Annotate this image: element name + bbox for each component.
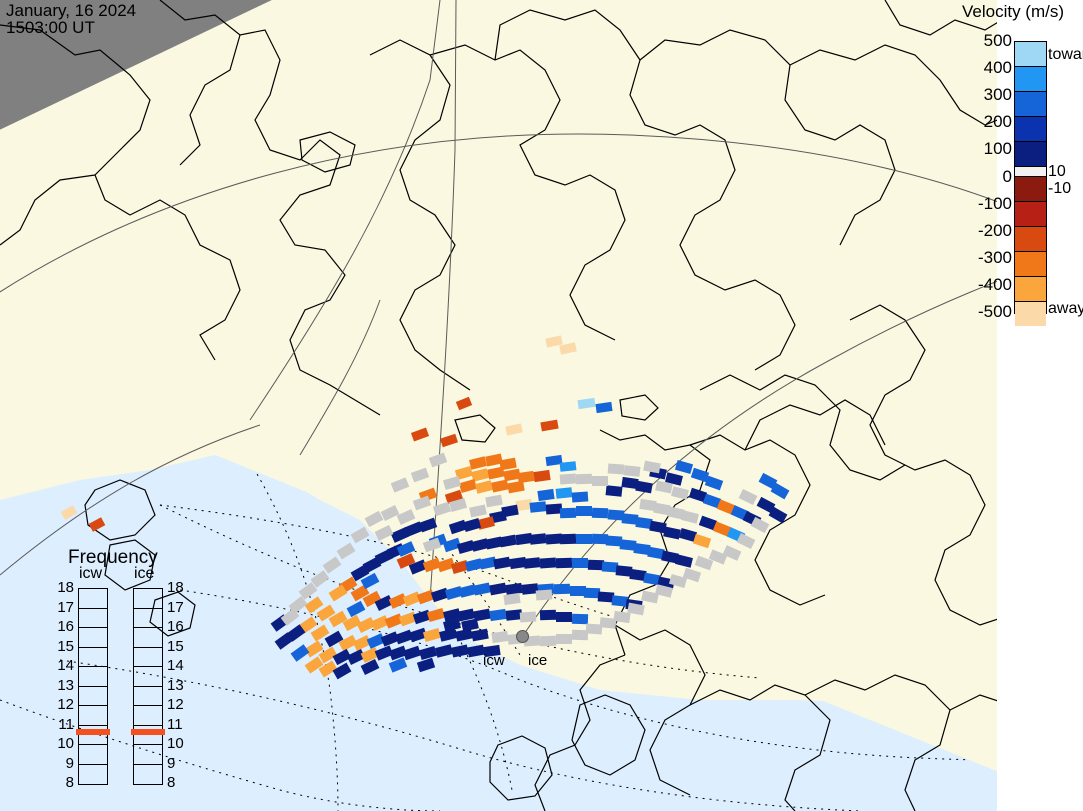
velocity-cell [435, 644, 453, 658]
frequency-tick-ice-15: 15 [167, 638, 193, 655]
frequency-tick-icw-9: 9 [48, 755, 74, 772]
frequency-marker-ice [131, 729, 165, 735]
site-label-icw: icw [483, 652, 505, 669]
colorbar-tick-100: 100 [968, 139, 1012, 159]
velocity-cell [323, 556, 342, 573]
velocity-cell [655, 480, 673, 493]
velocity-cell [624, 465, 641, 477]
velocity-cell [572, 491, 589, 502]
velocity-cell [375, 525, 394, 541]
velocity-cell [443, 476, 461, 490]
velocity-cell [560, 461, 577, 472]
frequency-bar-icw [78, 588, 108, 785]
velocity-cell [586, 623, 603, 634]
velocity-cell [485, 495, 502, 508]
velocity-cell [491, 631, 508, 643]
colorbar-tick-400: 400 [968, 58, 1012, 78]
frequency-tick-ice-10: 10 [167, 735, 193, 752]
velocity-cell [556, 558, 572, 569]
frequency-segment [134, 706, 162, 726]
frequency-bar-name-ice: ice [134, 565, 154, 583]
colorbar-band-away-3 [1015, 251, 1046, 276]
velocity-cell [391, 527, 410, 543]
frequency-segment [79, 628, 107, 648]
velocity-cell [643, 461, 660, 474]
velocity-cell [576, 534, 592, 544]
radar-site-marker [516, 630, 529, 643]
frequency-tick-ice-13: 13 [167, 677, 193, 694]
velocity-cell [675, 554, 693, 568]
velocity-cell [671, 486, 689, 500]
velocity-cell [641, 590, 659, 603]
velocity-cell [456, 397, 472, 411]
velocity-cell [608, 463, 625, 474]
velocity-cell [681, 510, 699, 524]
velocity-cell [520, 611, 537, 622]
frequency-tick-icw-12: 12 [48, 696, 74, 713]
colorbar-band-away-2 [1015, 226, 1046, 251]
frequency-segment [79, 667, 107, 687]
timestamp: January, 16 2024 1503:00 UT [6, 2, 136, 36]
velocity-cell [337, 543, 356, 560]
velocity-cell [489, 609, 506, 621]
velocity-cell [576, 506, 592, 516]
colorbar-tick-300: 300 [968, 85, 1012, 105]
velocity-cell [443, 618, 461, 632]
colorbar-band-toward-0 [1015, 42, 1046, 66]
frequency-segment [79, 687, 107, 707]
velocity-cell [411, 428, 429, 442]
colorbar-tick-neg400: -400 [968, 275, 1012, 295]
frequency-segment [134, 609, 162, 629]
velocity-cell [540, 557, 557, 568]
frequency-panel: icw18171615141312111098ice18171615141312… [0, 540, 200, 811]
velocity-cell [572, 558, 588, 568]
velocity-cell [411, 468, 429, 483]
velocity-cell [433, 502, 451, 516]
velocity-cell [621, 477, 638, 489]
frequency-tick-ice-8: 8 [167, 774, 193, 791]
velocity-cell [595, 402, 612, 413]
velocity-cell [739, 489, 758, 505]
velocity-cell [413, 496, 431, 511]
velocity-cell [440, 434, 458, 448]
velocity-cell [592, 476, 608, 486]
velocity-cell [449, 520, 467, 534]
frequency-segment [79, 589, 107, 609]
frequency-tick-icw-13: 13 [48, 677, 74, 694]
velocity-cell [530, 501, 547, 513]
velocity-cell [576, 474, 592, 485]
frequency-tick-ice-18: 18 [167, 579, 193, 596]
velocity-cell [554, 584, 570, 595]
frequency-tick-icw-15: 15 [48, 638, 74, 655]
velocity-cell [705, 476, 723, 491]
velocity-cell [451, 644, 469, 657]
velocity-cell [503, 593, 520, 605]
frequency-tick-icw-16: 16 [48, 618, 74, 635]
colorbar-away-label: away [1048, 300, 1083, 318]
superdarn-velocity-map: icw ice January, 16 2024 1503:00 UT Velo… [0, 0, 1083, 811]
velocity-cell [540, 636, 556, 647]
velocity-cell [499, 535, 516, 548]
colorbar-band-toward-2 [1015, 91, 1046, 116]
colorbar-tick-neg200: -200 [968, 221, 1012, 241]
colorbar-band-away-5 [1015, 301, 1046, 326]
colorbar-band-away-4 [1015, 276, 1046, 301]
velocity-cell [89, 517, 106, 532]
frequency-tick-icw-10: 10 [48, 735, 74, 752]
velocity-cell [489, 583, 506, 596]
frequency-segment [134, 667, 162, 687]
colorbar-band-away-0 [1015, 177, 1046, 201]
velocity-cell [737, 533, 756, 549]
velocity-cell [397, 509, 416, 525]
velocity-cell [459, 479, 477, 493]
velocity-cell [381, 505, 400, 521]
frequency-segment [134, 687, 162, 707]
velocity-cell [403, 646, 421, 660]
velocity-cell [540, 420, 558, 432]
colorbar-tick-neg100: -100 [968, 194, 1012, 214]
colorbar-band-toward-4 [1015, 141, 1046, 166]
velocity-cell [487, 466, 505, 479]
colorbar-tick-200: 200 [968, 112, 1012, 132]
frequency-marker-icw [76, 729, 110, 735]
velocity-cell [556, 634, 572, 644]
frequency-segment [134, 589, 162, 609]
velocity-cell [423, 538, 441, 553]
frequency-tick-ice-16: 16 [167, 618, 193, 635]
colorbar-tick-neg300: -300 [968, 248, 1012, 268]
velocity-cell [592, 508, 608, 519]
colorbar-toward-label: toward [1048, 46, 1083, 64]
site-label-ice: ice [528, 652, 547, 669]
colorbar-zero-lower-label: -10 [1048, 180, 1083, 198]
velocity-cell [493, 557, 510, 570]
colorbar-zero-upper-label: 10 [1048, 163, 1083, 181]
velocity-cell [507, 481, 524, 494]
velocity-cell [533, 470, 550, 482]
velocity-cell [769, 507, 788, 524]
velocity-cell [473, 582, 491, 595]
velocity-cell [572, 630, 588, 641]
colorbar-gradient [1014, 41, 1047, 314]
velocity-cell [505, 423, 523, 435]
velocity-cell [530, 533, 547, 545]
frequency-segment [134, 765, 162, 785]
frequency-tick-ice-12: 12 [167, 696, 193, 713]
velocity-cell [427, 608, 445, 622]
velocity-cell [536, 589, 553, 600]
velocity-cell [560, 534, 576, 545]
frequency-tick-icw-17: 17 [48, 599, 74, 616]
velocity-cell [751, 517, 770, 533]
velocity-cell [675, 460, 693, 474]
frequency-tick-icw-18: 18 [48, 579, 74, 596]
colorbar-tick-0: 0 [968, 167, 1012, 187]
velocity-cell [560, 508, 576, 519]
frequency-tick-ice-11: 11 [167, 716, 193, 733]
colorbar-tick-500: 500 [968, 31, 1012, 51]
velocity-cell [577, 398, 595, 409]
frequency-segment [134, 628, 162, 648]
velocity-cell [537, 489, 554, 501]
velocity-cell [559, 342, 577, 354]
velocity-cell [423, 628, 441, 642]
velocity-cell [61, 505, 78, 520]
velocity-cell [540, 610, 556, 621]
frequency-tick-icw-11: 11 [48, 716, 74, 733]
velocity-cell [524, 557, 541, 569]
velocity-cell [693, 534, 711, 548]
frequency-tick-ice-9: 9 [167, 755, 193, 772]
velocity-cell [560, 473, 577, 484]
velocity-cell [351, 527, 370, 544]
frequency-segment [134, 648, 162, 668]
frequency-tick-icw-8: 8 [48, 774, 74, 791]
frequency-bar-ice [133, 588, 163, 785]
velocity-cell [556, 612, 572, 622]
colorbar-band-toward-1 [1015, 66, 1046, 91]
frequency-segment [79, 648, 107, 668]
velocity-cell [556, 487, 573, 499]
frequency-segment [79, 745, 107, 765]
frequency-tick-icw-14: 14 [48, 657, 74, 674]
frequency-segment [79, 609, 107, 629]
frequency-segment [134, 745, 162, 765]
velocity-cell [491, 479, 509, 492]
velocity-cell [469, 504, 487, 517]
frequency-segment [79, 706, 107, 726]
velocity-cell [391, 477, 410, 492]
frequency-segment [79, 765, 107, 785]
frequency-tick-ice-17: 17 [167, 599, 193, 616]
colorbar-band-away-1 [1015, 201, 1046, 226]
velocity-cell [417, 658, 435, 672]
velocity-cell [771, 483, 790, 500]
colorbar-zero-band [1015, 166, 1046, 177]
frequency-bar-name-icw: icw [79, 565, 102, 583]
colorbar-ticks: 5004003002001000-100-200-300-400-500 [940, 0, 1012, 811]
frequency-tick-ice-14: 14 [167, 657, 193, 674]
velocity-cell [606, 485, 623, 497]
velocity-cell [429, 453, 447, 468]
colorbar-side-labels: toward10-10away [1048, 0, 1083, 811]
velocity-cell [471, 629, 488, 642]
colorbar-band-toward-3 [1015, 116, 1046, 141]
colorbar-tick-neg500: -500 [968, 302, 1012, 322]
